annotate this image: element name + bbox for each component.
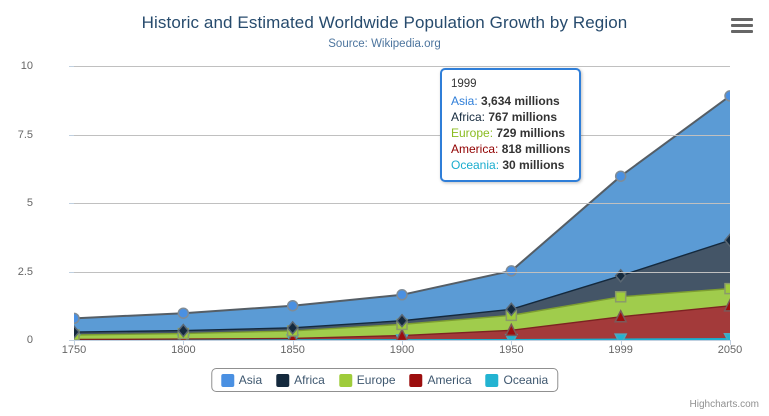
gridline: [74, 66, 730, 67]
y-axis-label: 0: [0, 334, 33, 346]
tooltip-series-value: 729 millions: [496, 126, 565, 140]
data-point-marker[interactable]: [725, 91, 730, 101]
page-title: Historic and Estimated Worldwide Populat…: [0, 13, 769, 33]
x-axis-label: 1900: [390, 344, 414, 356]
y-axis-label: 7.5: [0, 129, 33, 141]
tooltip-series-value: 767 millions: [488, 110, 557, 124]
legend-label: Europe: [357, 373, 396, 387]
y-axis-label: 5: [0, 197, 33, 209]
data-point-marker[interactable]: [616, 292, 626, 302]
x-axis-tick: [74, 340, 75, 345]
plot-area: [74, 66, 730, 340]
legend-swatch-icon: [339, 374, 352, 387]
x-axis-tick: [511, 340, 512, 345]
data-point-marker[interactable]: [725, 284, 730, 294]
tooltip-series-value: 30 millions: [502, 158, 564, 172]
x-axis-label: 1850: [280, 344, 304, 356]
legend-item-oceania[interactable]: Oceania: [486, 373, 549, 387]
tooltip-row: America: 818 millions: [451, 141, 570, 157]
tooltip-series-name: Asia:: [451, 94, 481, 108]
x-axis-label: 1800: [171, 344, 195, 356]
x-axis-tick: [183, 340, 184, 345]
data-point-marker[interactable]: [288, 301, 298, 311]
tooltip-series-value: 818 millions: [502, 142, 571, 156]
x-axis-label: 1750: [62, 344, 86, 356]
legend-item-africa[interactable]: Africa: [276, 373, 325, 387]
tooltip-row: Oceania: 30 millions: [451, 157, 570, 173]
chart-subtitle: Source: Wikipedia.org: [0, 38, 769, 50]
legend-swatch-icon: [221, 374, 234, 387]
highcharts-chart-container: Historic and Estimated Worldwide Populat…: [0, 0, 769, 416]
legend-swatch-icon: [276, 374, 289, 387]
menu-bar-3: [731, 30, 753, 33]
gridline: [74, 203, 730, 204]
legend[interactable]: AsiaAfricaEuropeAmericaOceania: [211, 368, 558, 392]
tooltip-header: 1999: [451, 76, 570, 92]
data-point-marker[interactable]: [74, 313, 79, 323]
y-axis-label: 10: [0, 60, 33, 72]
tooltip-series-value: 3,634 millions: [481, 94, 560, 108]
tooltip-row: Europe: 729 millions: [451, 125, 570, 141]
x-axis-tick: [402, 340, 403, 345]
y-axis-label: 2.5: [0, 266, 33, 278]
legend-label: Africa: [294, 373, 325, 387]
tooltip-row: Africa: 767 millions: [451, 109, 570, 125]
tooltip-series-name: America:: [451, 142, 502, 156]
tooltip-series-name: Europe:: [451, 126, 496, 140]
legend-swatch-icon: [410, 374, 423, 387]
data-point-marker[interactable]: [397, 290, 407, 300]
legend-item-europe[interactable]: Europe: [339, 373, 396, 387]
legend-label: Oceania: [504, 373, 549, 387]
data-point-marker[interactable]: [616, 171, 626, 181]
tooltip-row: Asia: 3,634 millions: [451, 93, 570, 109]
legend-item-asia[interactable]: Asia: [221, 373, 262, 387]
menu-bar-1: [731, 18, 753, 21]
legend-label: Asia: [239, 373, 262, 387]
x-axis-label: 1950: [499, 344, 523, 356]
tooltip: 1999 Asia: 3,634 millionsAfrica: 767 mil…: [440, 68, 581, 182]
x-axis-label: 2050: [718, 344, 742, 356]
gridline: [74, 272, 730, 273]
legend-swatch-icon: [486, 374, 499, 387]
tooltip-series-name: Oceania:: [451, 158, 502, 172]
x-axis-tick: [730, 340, 731, 345]
tooltip-series-name: Africa:: [451, 110, 488, 124]
highcharts-credit[interactable]: Highcharts.com: [690, 399, 759, 410]
x-axis-label: 1999: [608, 344, 632, 356]
legend-item-america[interactable]: America: [410, 373, 472, 387]
data-point-marker[interactable]: [178, 308, 188, 318]
hamburger-menu-icon[interactable]: [731, 18, 753, 36]
tooltip-rows: Asia: 3,634 millionsAfrica: 767 millions…: [451, 93, 570, 173]
menu-bar-2: [731, 24, 753, 27]
legend-label: America: [428, 373, 472, 387]
gridline: [74, 135, 730, 136]
x-axis-tick: [293, 340, 294, 345]
x-axis-tick: [621, 340, 622, 345]
